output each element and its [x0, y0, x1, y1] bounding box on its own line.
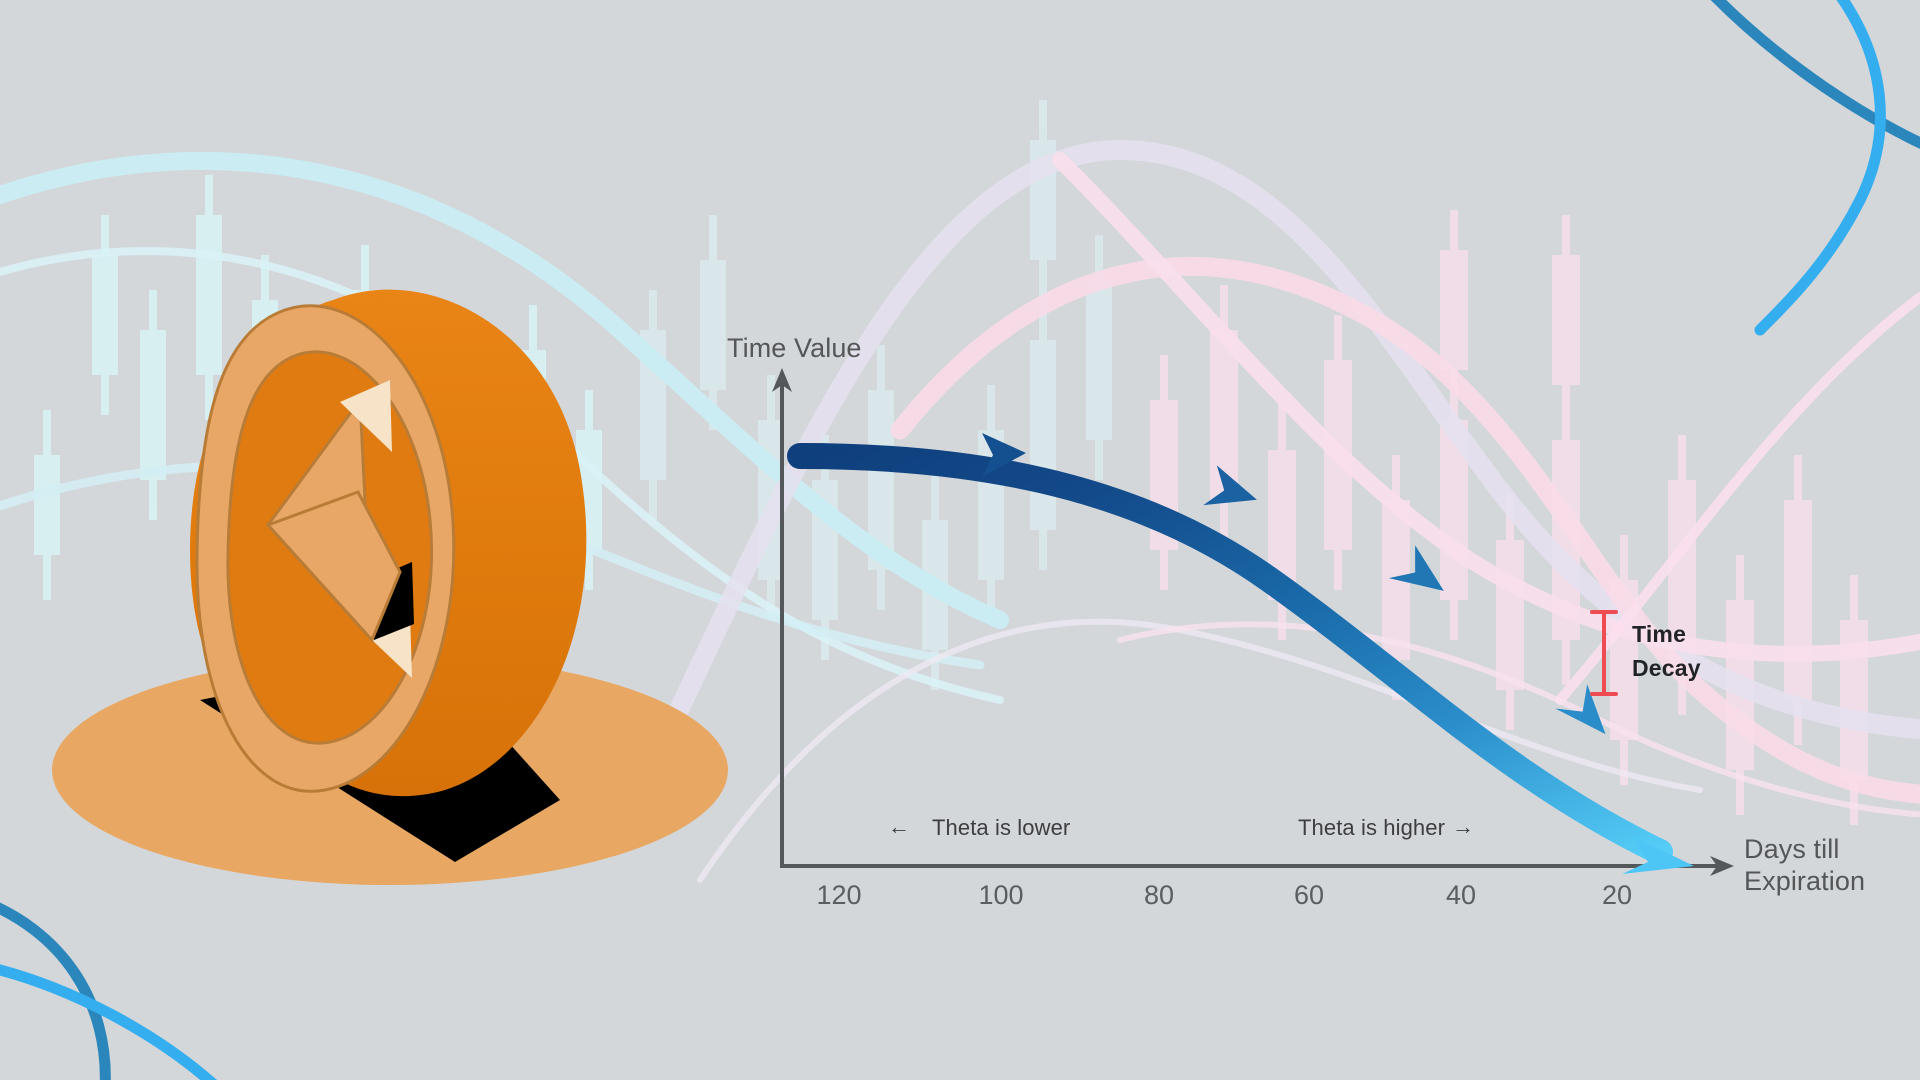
theta-higher-label: Theta is higher [1298, 816, 1445, 841]
x-tick-label-60: 60 [1274, 880, 1344, 910]
theta-lower-label: Theta is lower [932, 816, 1070, 841]
x-axis [780, 856, 1734, 876]
x-axis-title-line1: Days till [1744, 834, 1839, 864]
x-tick-label-40: 40 [1426, 880, 1496, 910]
time-decay-bracket [1592, 612, 1616, 694]
x-axis-title-line2: Expiration [1744, 866, 1865, 896]
x-tick-label-120: 120 [804, 880, 874, 910]
decay-curve [800, 456, 1694, 874]
x-tick-label-80: 80 [1124, 880, 1194, 910]
theta-lower-arrow-icon: ← [888, 815, 910, 840]
time-decay-label-line2: Decay [1632, 656, 1701, 682]
theta-higher-arrow-icon: → [1452, 815, 1474, 840]
theta-decay-chart [0, 0, 1920, 1080]
illustration-canvas: Time Value Days till Expiration 120 100 … [0, 0, 1920, 1080]
y-axis-title: Time Value [727, 333, 862, 363]
x-tick-label-20: 20 [1582, 880, 1652, 910]
y-axis [772, 368, 792, 868]
time-decay-label-line1: Time [1632, 622, 1686, 648]
x-tick-label-100: 100 [966, 880, 1036, 910]
